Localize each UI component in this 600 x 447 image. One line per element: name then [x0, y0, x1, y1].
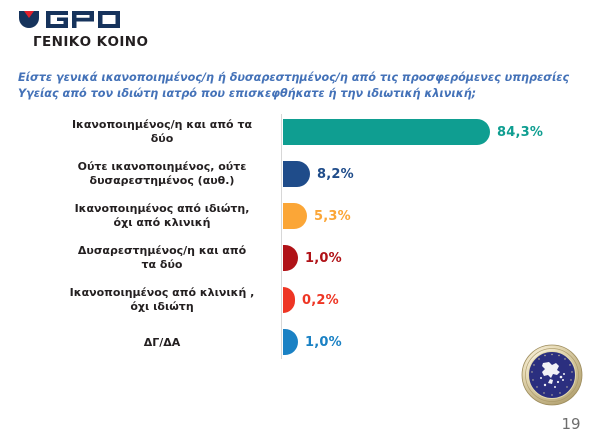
category-label-line-1: Δυσαρεστημένος/η και από [78, 244, 246, 257]
question-line-2: Υγείας από τον ιδιώτη ιατρό που επισκεφθ… [18, 86, 578, 102]
category-label-line-1: Ικανοποιημένος/η και από τα [72, 118, 252, 131]
panhellenic-medical-association-seal-icon [521, 344, 583, 406]
category-label-line-2: δύο [151, 132, 174, 145]
chart-bar-value: 84,3% [497, 125, 543, 140]
chart-category-label: Ούτε ικανοποιημένος, ούτε δυσαρεστημένος… [47, 160, 277, 188]
chart-category-label: Ικανοποιημένος/η και από τα δύο [47, 118, 277, 146]
category-label-line-1: Ούτε ικανοποιημένος, ούτε [78, 160, 247, 173]
chart-bar-group: 0,2% [283, 280, 339, 320]
slide-canvas: ΓΕΝΙΚΟ ΚΟΙΝΟ Είστε γενικά ικανοποιημένος… [0, 0, 600, 447]
question-line-1: Είστε γενικά ικανοποιημένος/η ή δυσαρεστ… [18, 70, 578, 86]
audience-title: ΓΕΝΙΚΟ ΚΟΙΝΟ [33, 34, 148, 50]
chart-bar[interactable] [283, 287, 295, 313]
chart-category-label: Ικανοποιημένος από ιδιώτη, όχι από κλινι… [47, 202, 277, 230]
chart-bar[interactable] [283, 203, 307, 229]
chart-bar-value: 1,0% [305, 251, 342, 266]
chart-row: Ικανοποιημένος από κλινική , όχι ιδιώτη … [0, 280, 600, 320]
chart-bar[interactable] [283, 161, 310, 187]
chart-row: Ικανοποιημένος/η και από τα δύο 84,3% [0, 112, 600, 152]
chart-bar-value: 1,0% [305, 335, 342, 350]
category-label-line-2: όχι από κλινική [114, 216, 211, 229]
chart-bar-group: 1,0% [283, 322, 342, 362]
gpo-chevron-mark-icon [18, 9, 40, 29]
chart-category-label: Ικανοποιημένος από κλινική , όχι ιδιώτη [47, 286, 277, 314]
chart-category-label: Δυσαρεστημένος/η και από τα δύο [47, 244, 277, 272]
chart-bar-group: 8,2% [283, 154, 354, 194]
chart-row: Ικανοποιημένος από ιδιώτη, όχι από κλινι… [0, 196, 600, 236]
category-label-line-2: δυσαρεστημένος (αυθ.) [90, 174, 235, 187]
category-label-line-1: Ικανοποιημένος από κλινική , [70, 286, 255, 299]
chart-row: Ούτε ικανοποιημένος, ούτε δυσαρεστημένος… [0, 154, 600, 194]
chart-row: ΔΓ/ΔΑ 1,0% [0, 322, 600, 362]
gpo-logo-wordmark [46, 11, 124, 28]
category-label-line-2: τα δύο [142, 258, 183, 271]
chart-bar[interactable] [283, 329, 298, 355]
category-label-line-2: όχι ιδιώτη [130, 300, 193, 313]
chart-bar-group: 1,0% [283, 238, 342, 278]
category-label-line-1: ΔΓ/ΔΑ [144, 336, 181, 349]
category-label-line-1: Ικανοποιημένος από ιδιώτη, [75, 202, 250, 215]
question-text: Είστε γενικά ικανοποιημένος/η ή δυσαρεστ… [18, 70, 578, 102]
page-number: 19 [556, 415, 586, 433]
chart-bar-value: 0,2% [302, 293, 339, 308]
chart-bar-value: 8,2% [317, 167, 354, 182]
chart-bar[interactable] [283, 119, 490, 145]
gpo-logo [18, 8, 124, 30]
chart-bar[interactable] [283, 245, 298, 271]
bar-chart: Ικανοποιημένος/η και από τα δύο 84,3% Ού… [0, 112, 600, 362]
chart-bar-group: 5,3% [283, 196, 351, 236]
chart-bar-value: 5,3% [314, 209, 351, 224]
chart-row: Δυσαρεστημένος/η και από τα δύο 1,0% [0, 238, 600, 278]
chart-bar-group: 84,3% [283, 112, 543, 152]
chart-category-label: ΔΓ/ΔΑ [47, 336, 277, 350]
